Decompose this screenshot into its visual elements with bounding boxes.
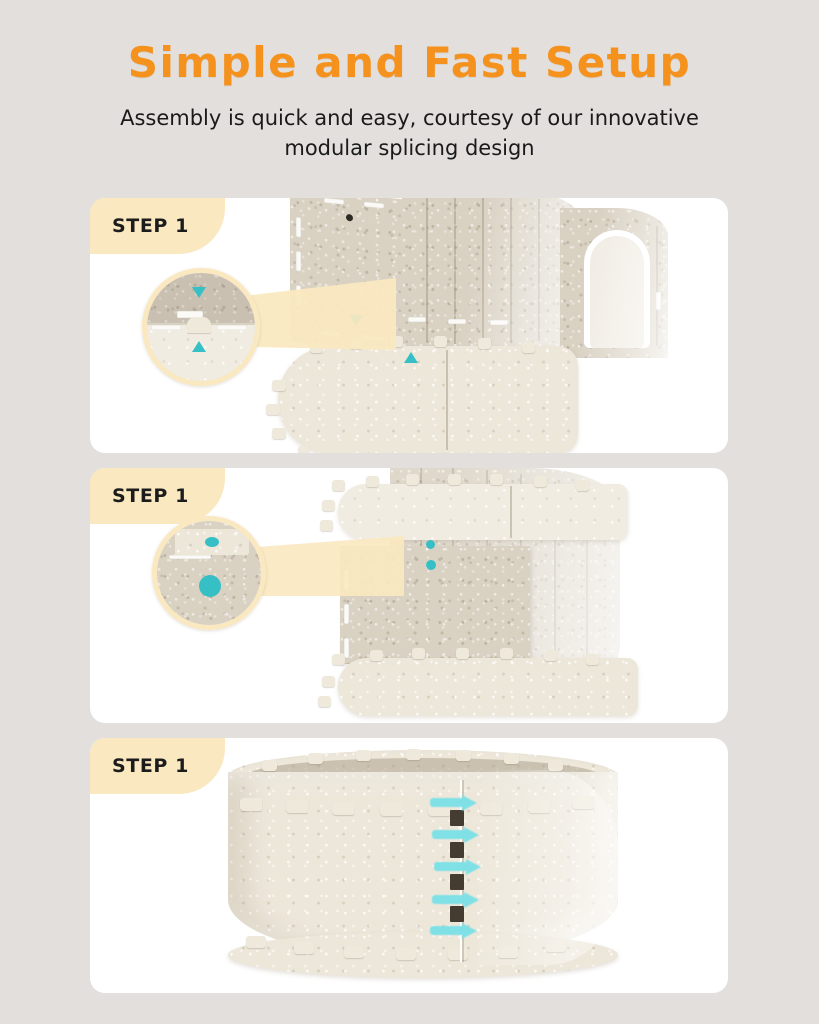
assembled-enclosure bbox=[228, 750, 618, 982]
subtitle-line-2: modular splicing design bbox=[284, 136, 534, 160]
magnifier-detail-1 bbox=[142, 268, 260, 386]
step-badge-label: STEP 1 bbox=[112, 755, 189, 777]
step-badge-label: STEP 1 bbox=[112, 485, 189, 507]
step-badge-1: STEP 1 bbox=[90, 198, 225, 254]
floor-mat-lower bbox=[318, 644, 658, 723]
step-card-3: STEP 1 bbox=[90, 738, 728, 993]
step-badge-2: STEP 1 bbox=[90, 468, 225, 524]
magnifier-content bbox=[147, 273, 255, 381]
step-badge-3: STEP 1 bbox=[90, 738, 225, 794]
step-card-1: STEP 1 bbox=[90, 198, 728, 453]
subtitle-line-1: Assembly is quick and easy, courtesy of … bbox=[120, 106, 699, 130]
magnifier-content bbox=[157, 521, 261, 625]
infographic-page: Simple and Fast Setup Assembly is quick … bbox=[0, 0, 819, 1024]
magnifier-detail-2 bbox=[152, 516, 266, 630]
page-subtitle: Assembly is quick and easy, courtesy of … bbox=[80, 104, 740, 164]
step-card-2: STEP 1 bbox=[90, 468, 728, 723]
wall-panel-curved bbox=[402, 198, 582, 352]
step-badge-label: STEP 1 bbox=[112, 215, 189, 237]
page-title: Simple and Fast Setup bbox=[0, 38, 819, 87]
